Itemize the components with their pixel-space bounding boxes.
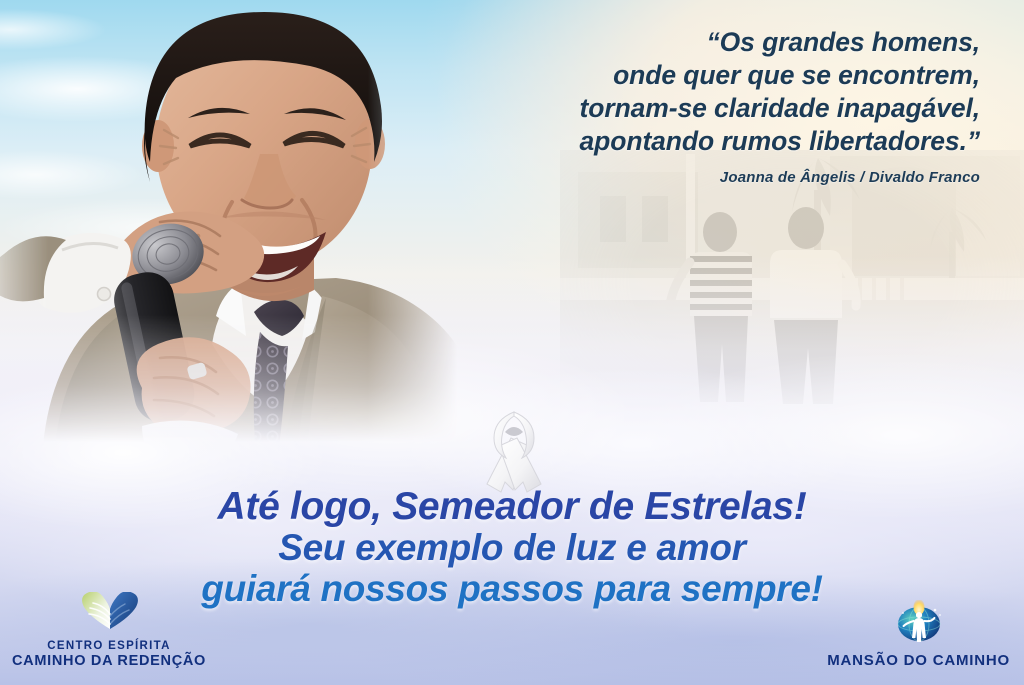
portrait-smiling-man-with-microphone: [0, 0, 462, 456]
quote-line-4: apontando rumos libertadores.”: [420, 125, 980, 158]
quote-line-2: onde quer que se encontrem,: [420, 59, 980, 92]
quote-line-1: “Os grandes homens,: [420, 26, 980, 59]
headline-line-1: Até logo, Semeador de Estrelas!: [0, 486, 1024, 527]
logo-left-line-2: CAMINHO DA REDENÇÃO: [12, 653, 206, 669]
logo-centro-espirita: CENTRO ESPÍRITA CAMINHO DA REDENÇÃO: [12, 592, 206, 669]
logo-left-line-1: CENTRO ESPÍRITA: [12, 640, 206, 653]
headline-line-2: Seu exemplo de luz e amor: [0, 527, 1024, 568]
white-ribbon-icon: [481, 408, 547, 494]
quote-attribution: Joanna de Ângelis / Divaldo Franco: [420, 169, 980, 186]
logo-right-label: MANSÃO DO CAMINHO: [827, 652, 1010, 669]
logo-left-text: CENTRO ESPÍRITA CAMINHO DA REDENÇÃO: [12, 640, 206, 669]
quote-line-3: tornam-se claridade inapagável,: [420, 92, 980, 125]
gripping-hand: [137, 337, 251, 456]
heart-hands-icon: [77, 592, 141, 637]
quote-block: “Os grandes homens, onde quer que se enc…: [420, 26, 980, 186]
memorial-poster: “Os grandes homens, onde quer que se enc…: [0, 0, 1024, 685]
headline-block: Até logo, Semeador de Estrelas! Seu exem…: [0, 486, 1024, 609]
logo-mansao-do-caminho: MANSÃO DO CAMINHO: [827, 600, 1010, 669]
globe-figure-icon: [890, 600, 948, 649]
